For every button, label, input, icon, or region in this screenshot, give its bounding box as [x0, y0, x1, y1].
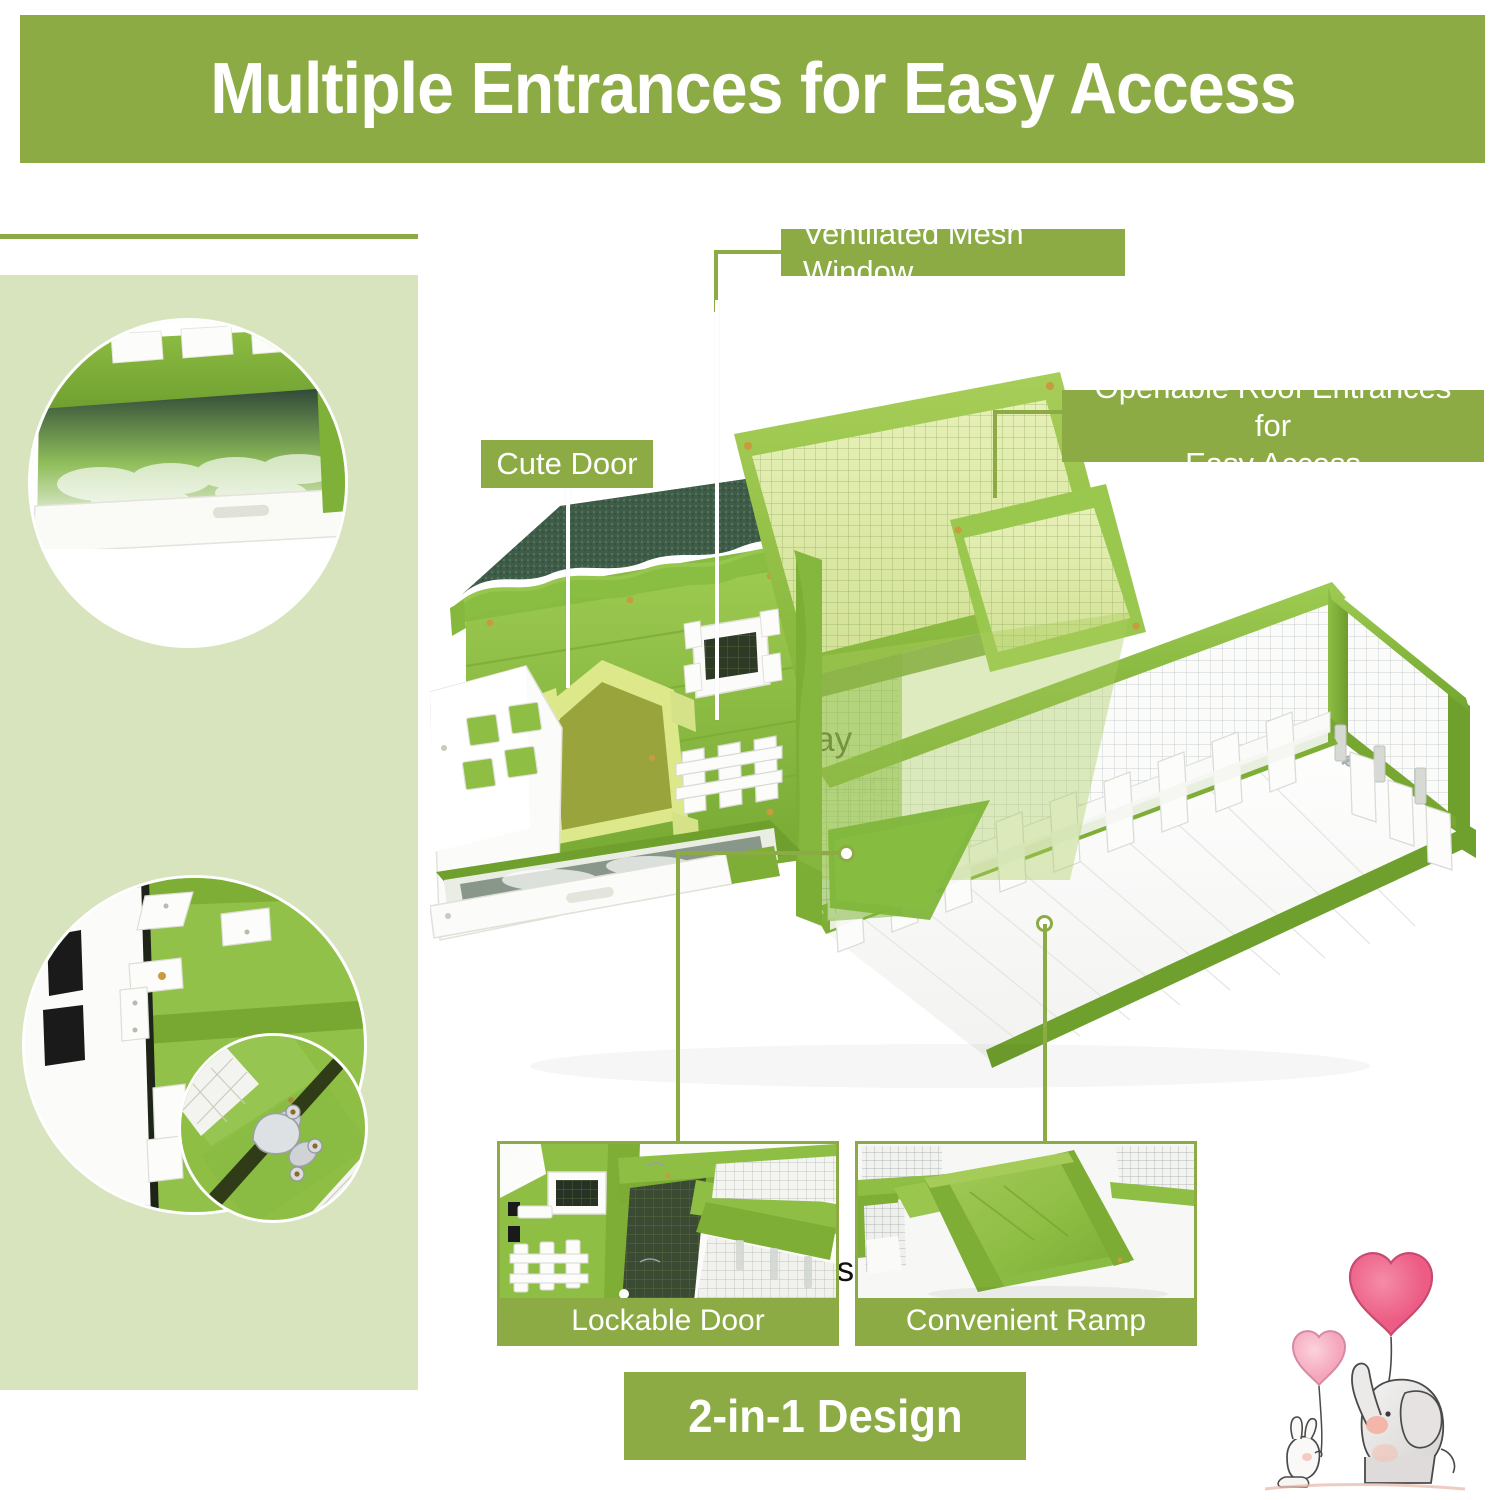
heart-balloon-small-icon — [1293, 1331, 1345, 1385]
ventilated-mesh-window — [684, 609, 782, 698]
leader-lockable-vertical — [676, 851, 680, 1143]
leader-ramp-vertical — [1043, 924, 1047, 1144]
inset-photo-latch-closeup — [178, 1033, 368, 1223]
mascot-illustration — [1245, 1225, 1495, 1495]
heart-balloon-large-icon — [1350, 1253, 1432, 1335]
bottom-panel-lockable-door: Lockable Door — [497, 1141, 839, 1346]
inset-photo-pull-out-tray — [28, 318, 348, 648]
callout-ventilated-mesh-window: Ventilated Mesh Window — [781, 229, 1125, 276]
elephant-bunny-balloons-icon — [1245, 1225, 1495, 1495]
pull-out-tray-photo — [31, 321, 348, 648]
sidebar-divider-rule — [0, 234, 418, 239]
callout-label: Cute Door — [496, 445, 637, 483]
bottom-panel-convenient-ramp: Convenient Ramp — [855, 1141, 1197, 1346]
leader-lockable-horizontal — [676, 851, 841, 855]
elephant-icon — [1352, 1364, 1455, 1484]
leader-cute-door-vertical — [566, 488, 570, 688]
callout-cute-door: Cute Door — [481, 440, 653, 488]
callout-openable-roof-entrances: Openable Roof Entrances for Easy Access — [1062, 390, 1484, 462]
bottom-banner: 2-in-1 Design — [624, 1372, 1026, 1460]
leader-mesh-horizontal — [714, 250, 782, 254]
bottom-banner-text: 2-in-1 Design — [688, 1389, 962, 1443]
lockable-door-photo — [500, 1144, 836, 1302]
bottom-panel-label-convenient-ramp: Convenient Ramp — [858, 1298, 1194, 1343]
page-title: Multiple Entrances for Easy Access — [210, 48, 1295, 130]
leader-roof-horizontal — [993, 410, 1063, 414]
callout-label: Ventilated Mesh Window — [803, 215, 1113, 291]
header-banner: Multiple Entrances for Easy Access — [20, 15, 1485, 163]
leader-roof-vertical — [993, 410, 997, 498]
bottom-panel-label-lockable-door: Lockable Door — [500, 1298, 836, 1343]
convenient-ramp-photo — [858, 1144, 1194, 1302]
bunny-icon — [1278, 1417, 1322, 1487]
leader-mesh-vertical-white — [715, 300, 719, 720]
latch-closeup-photo — [181, 1036, 368, 1223]
callout-label-line2: Easy Access — [1074, 445, 1472, 483]
callout-label-line1: Openable Roof Entrances for — [1074, 369, 1472, 445]
